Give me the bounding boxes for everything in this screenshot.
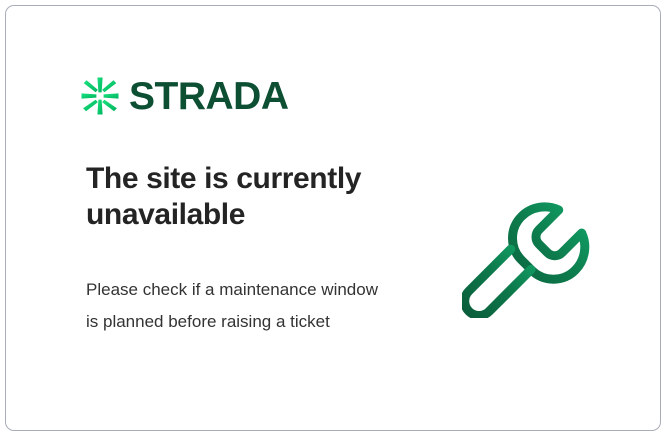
brand-lockup: STRADA <box>80 76 289 116</box>
asterisk-star-icon <box>80 76 120 116</box>
wrench-icon <box>462 162 618 318</box>
status-card: STRADA The site is currently unavailable… <box>5 5 661 431</box>
page-description: Please check if a maintenance window is … <box>86 274 386 338</box>
error-page: STRADA The site is currently unavailable… <box>0 0 666 436</box>
page-title: The site is currently unavailable <box>86 161 416 233</box>
brand-wordmark: STRADA <box>129 77 289 116</box>
